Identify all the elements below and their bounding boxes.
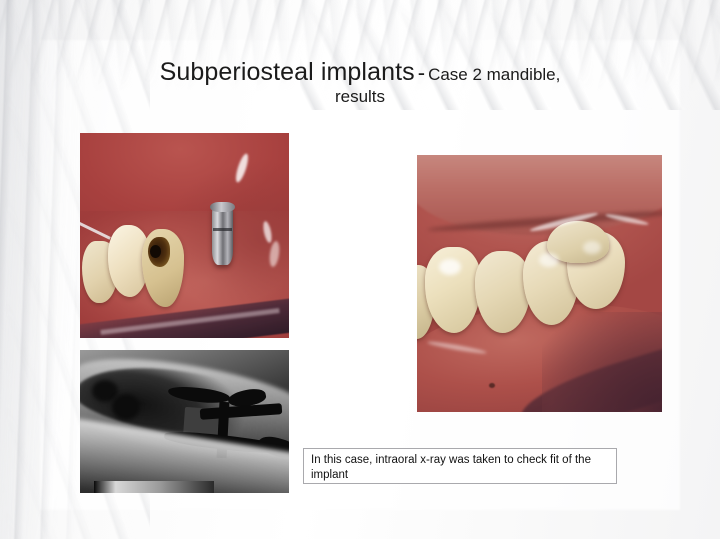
title-second-line: results	[60, 87, 660, 107]
crown-gloss	[439, 259, 461, 275]
intraoral-photo-abutment	[80, 133, 289, 338]
abutment-head	[210, 202, 235, 212]
probe-instrument	[80, 221, 111, 239]
corner-shadow	[542, 312, 662, 412]
caries-cavity-core	[150, 245, 161, 258]
mucosal-pigment-spot	[489, 383, 495, 388]
slide-title: Subperiosteal implants-Case 2 mandible, …	[60, 58, 660, 107]
tissue-highlight	[268, 241, 281, 268]
tissue-highlight	[262, 221, 273, 244]
radiolucency	[112, 394, 140, 420]
film-holder-edge	[94, 481, 214, 493]
caption-textbox: In this case, intraoral x-ray was taken …	[303, 448, 617, 484]
tissue-highlight	[234, 152, 251, 183]
title-separator-dash: -	[415, 60, 428, 85]
intraoral-radiograph	[80, 350, 289, 493]
crown-gloss	[539, 253, 559, 267]
implant-abutment-post	[212, 205, 233, 265]
title-main-text: Subperiosteal implants	[160, 58, 415, 86]
intraoral-photo-final-restoration	[417, 155, 662, 412]
title-subtitle-text: Case 2 mandible,	[428, 65, 560, 84]
slide-canvas: Subperiosteal implants-Case 2 mandible, …	[0, 0, 720, 539]
crown-gloss	[583, 241, 601, 254]
abutment-groove	[213, 228, 232, 231]
caption-text: In this case, intraoral x-ray was taken …	[311, 453, 609, 484]
